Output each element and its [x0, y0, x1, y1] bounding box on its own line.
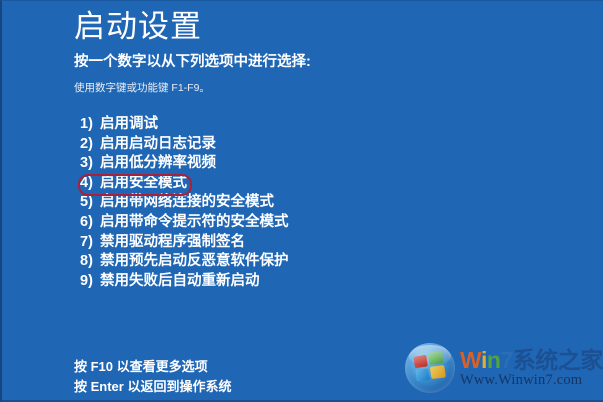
option-number: 2)	[80, 135, 100, 155]
option-number: 9)	[80, 272, 100, 292]
option-label: 启用调试	[100, 116, 158, 132]
startup-settings-screen: 启动设置 按一个数字以从下列选项中进行选择: 使用数字键或功能键 F1-F9。 …	[0, 0, 603, 402]
watermark: Win7系统之家 Www.Winwin7.com	[405, 340, 597, 396]
option-label: 禁用驱动程序强制签名	[100, 234, 245, 250]
subtitle-instruction: 按一个数字以从下列选项中进行选择:	[74, 53, 311, 72]
list-item[interactable]: 5)启用带网络连接的安全模式	[80, 193, 510, 213]
windows-orb-icon	[405, 343, 455, 393]
option-label: 禁用预先启动反恶意软件保护	[100, 253, 289, 269]
brand-letter-w: W	[460, 347, 481, 373]
option-label: 启用低分辨率视频	[100, 155, 216, 171]
footer-line-f10: 按 F10 以查看更多选项	[74, 357, 231, 377]
list-item[interactable]: 2)启用启动日志记录	[80, 135, 510, 155]
page-title: 启动设置	[74, 7, 202, 47]
list-item-safe-mode[interactable]: 4)启用安全模式	[80, 174, 510, 194]
footer-line-enter: 按 Enter 以返回到操作系统	[74, 377, 231, 397]
list-item[interactable]: 8)禁用预先启动反恶意软件保护	[80, 252, 510, 272]
option-number: 6)	[80, 213, 100, 233]
list-item[interactable]: 7)禁用驱动程序强制签名	[80, 233, 510, 253]
list-item[interactable]: 6)启用带命令提示符的安全模式	[80, 213, 510, 233]
option-label: 启用安全模式	[100, 175, 187, 191]
option-label: 禁用失败后自动重新启动	[100, 273, 260, 289]
option-label: 启用带命令提示符的安全模式	[100, 214, 289, 230]
option-number: 7)	[80, 233, 100, 253]
option-number: 1)	[80, 115, 100, 135]
list-item[interactable]: 1)启用调试	[80, 115, 510, 135]
watermark-text: Win7系统之家 Www.Winwin7.com	[460, 348, 603, 388]
watermark-brand: Win7系统之家	[460, 348, 603, 372]
list-item[interactable]: 9)禁用失败后自动重新启动	[80, 272, 510, 292]
option-label: 启用带网络连接的安全模式	[100, 194, 274, 210]
options-list: 1)启用调试 2)启用启动日志记录 3)启用低分辨率视频 4)启用安全模式 5)…	[80, 115, 510, 291]
option-number: 5)	[80, 193, 100, 213]
brand-cn-text: 系统之家	[513, 347, 603, 373]
brand-letter-n: n	[487, 347, 501, 373]
option-number: 8)	[80, 252, 100, 272]
brand-digit-seven: 7	[500, 347, 512, 373]
list-item[interactable]: 3)启用低分辨率视频	[80, 154, 510, 174]
option-number: 4)	[80, 174, 100, 194]
footer-instructions: 按 F10 以查看更多选项 按 Enter 以返回到操作系统	[74, 357, 231, 397]
keyboard-hint: 使用数字键或功能键 F1-F9。	[74, 81, 210, 96]
option-label: 启用启动日志记录	[100, 136, 216, 152]
watermark-url: Www.Winwin7.com	[460, 372, 603, 388]
option-number: 3)	[80, 154, 100, 174]
